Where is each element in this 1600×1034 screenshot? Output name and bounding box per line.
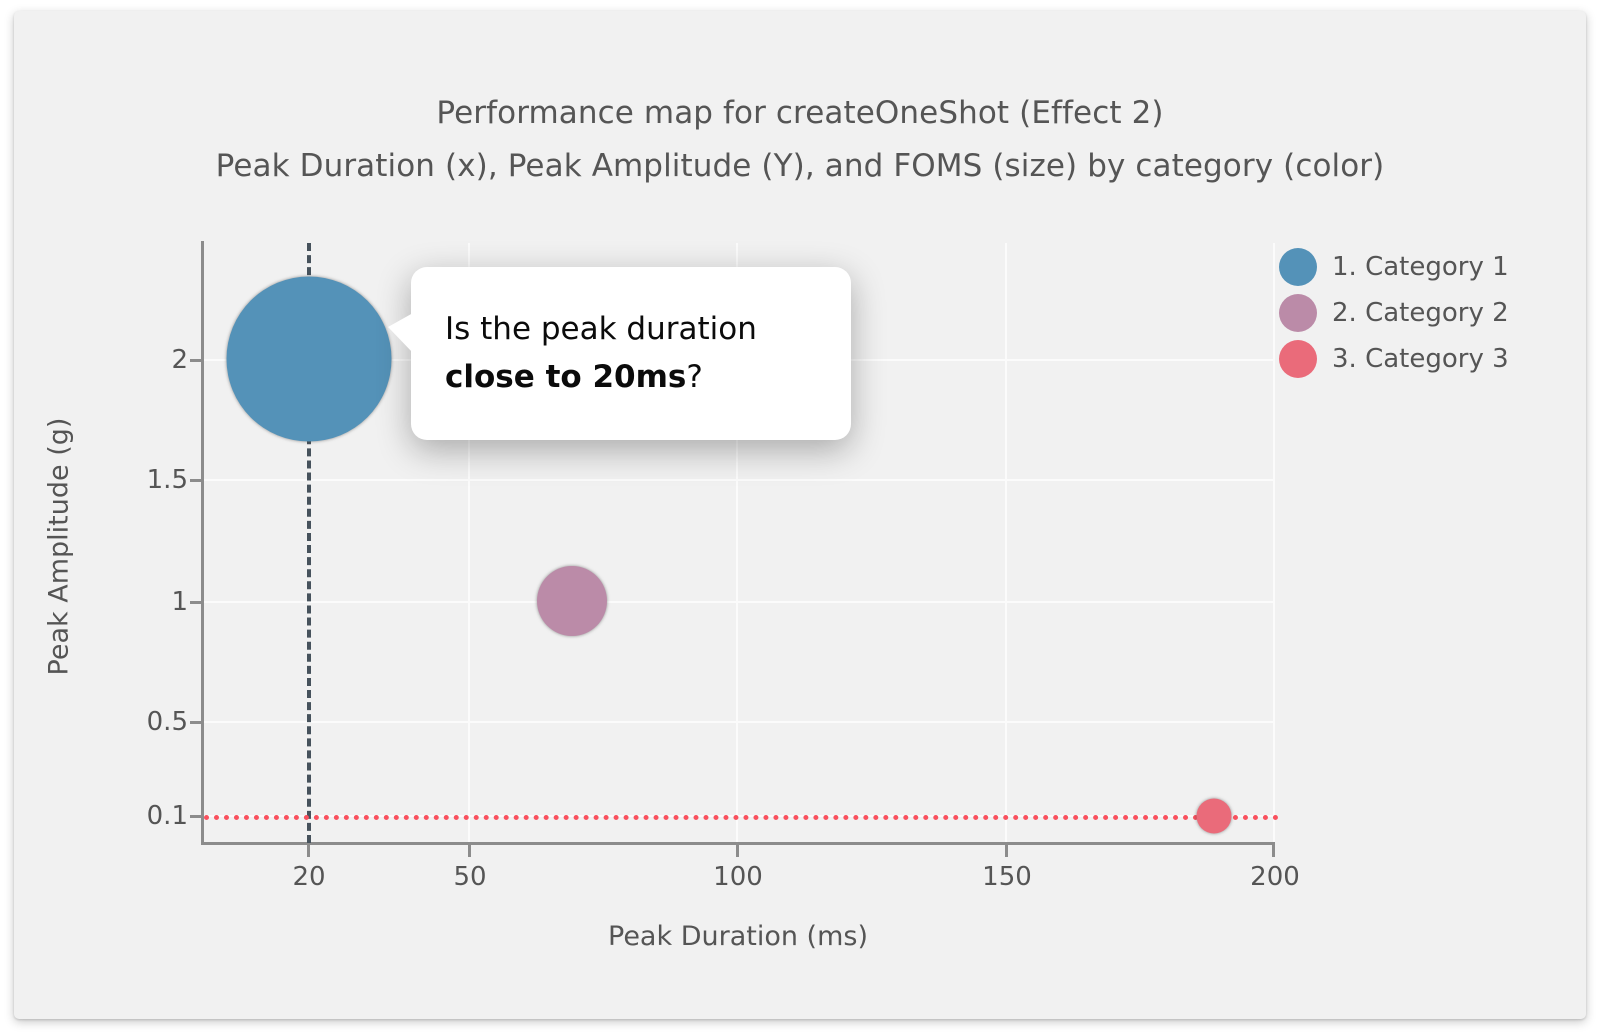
legend-swatch-icon <box>1279 294 1317 332</box>
legend: 1. Category 1 2. Category 2 3. Category … <box>1279 244 1579 382</box>
callout-text-tail: ? <box>686 359 702 395</box>
callout-bubble[interactable]: Is the peak duration close to 20ms? <box>411 267 851 440</box>
y-tickmark <box>190 721 202 724</box>
y-tickmark <box>190 359 202 362</box>
legend-swatch-icon <box>1279 340 1317 378</box>
chart-card: Performance map for createOneShot (Effec… <box>14 11 1586 1019</box>
plot-area: 2 1.5 1 0.5 0.1 20 50 100 150 200 Pea <box>14 11 1586 1019</box>
callout-text: Is the peak duration close to 20ms? <box>445 305 825 401</box>
y-tick-label: 2 <box>171 347 188 373</box>
gridline-vertical <box>1273 243 1275 843</box>
x-axis-cap <box>1272 842 1275 857</box>
data-point-category-3[interactable] <box>1197 799 1232 834</box>
legend-item-label: 2. Category 2 <box>1332 298 1509 328</box>
gridline-horizontal <box>204 479 1274 481</box>
x-tickmark <box>307 845 310 857</box>
y-axis-line <box>201 241 204 845</box>
screenshot-page: Performance map for createOneShot (Effec… <box>0 0 1600 1034</box>
y-tick-label: 1.5 <box>147 467 188 493</box>
gridline-horizontal <box>204 601 1274 603</box>
legend-item-label: 1. Category 1 <box>1332 252 1509 282</box>
x-tickmark <box>1005 845 1008 857</box>
x-tick-label: 150 <box>982 862 1032 892</box>
legend-item-category-3[interactable]: 3. Category 3 <box>1279 336 1579 382</box>
x-tickmark <box>736 845 739 857</box>
callout-text-normal: Is the peak duration <box>445 311 757 347</box>
gridline-horizontal <box>204 721 1274 723</box>
y-tick-label: 1 <box>171 589 188 615</box>
callout-tail <box>388 313 413 353</box>
legend-item-category-2[interactable]: 2. Category 2 <box>1279 290 1579 336</box>
x-tick-label: 200 <box>1250 862 1300 892</box>
y-tick-label: 0.5 <box>147 709 188 735</box>
x-tick-label: 100 <box>713 862 763 892</box>
y-tickmark <box>190 815 202 818</box>
x-tick-label: 20 <box>292 862 325 892</box>
x-tickmark <box>468 845 471 857</box>
y-tickmark <box>190 601 202 604</box>
callout-text-bold: close to 20ms <box>445 359 686 395</box>
reference-line-horizontal-0.1g <box>204 815 1279 820</box>
legend-swatch-icon <box>1279 248 1317 286</box>
x-tick-label: 50 <box>453 862 486 892</box>
legend-item-category-1[interactable]: 1. Category 1 <box>1279 244 1579 290</box>
gridline-vertical <box>1005 243 1007 843</box>
x-axis-title: Peak Duration (ms) <box>201 921 1275 952</box>
data-point-category-2[interactable] <box>537 566 607 636</box>
y-axis-title: Peak Amplitude (g) <box>44 287 75 807</box>
y-axis-cap <box>201 241 204 247</box>
y-tickmark <box>190 479 202 482</box>
y-tick-label: 0.1 <box>147 803 188 829</box>
legend-item-label: 3. Category 3 <box>1332 344 1509 374</box>
data-point-category-1[interactable] <box>227 277 392 442</box>
